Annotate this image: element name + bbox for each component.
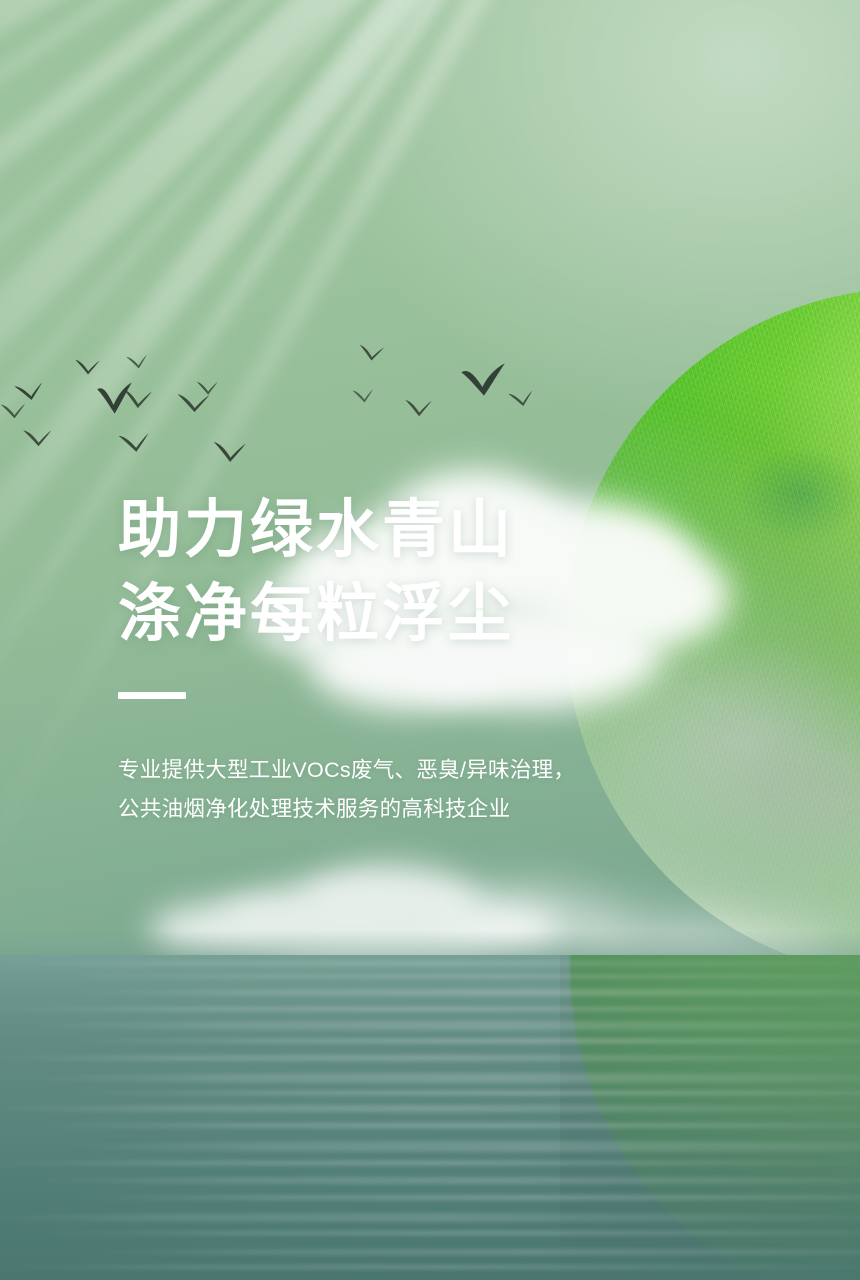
bird-icon bbox=[0, 402, 26, 420]
water-ripple bbox=[0, 1055, 860, 1061]
water-ripple bbox=[52, 1091, 860, 1095]
bird-icon bbox=[459, 360, 510, 401]
bird-icon bbox=[73, 357, 100, 377]
water-ripple bbox=[17, 1231, 860, 1235]
water-ripple bbox=[52, 1195, 860, 1200]
bird-icon bbox=[403, 397, 432, 419]
water-ripple bbox=[0, 1105, 860, 1112]
subtitle-line-1: 专业提供大型工业VOCs废气、恶臭/异味治理， bbox=[118, 751, 758, 790]
hero-text-block: 助力绿水青山 涤净每粒浮尘 专业提供大型工业VOCs废气、恶臭/异味治理， 公共… bbox=[118, 488, 758, 829]
bird-icon bbox=[125, 353, 148, 370]
subtitle-line-2: 公共油烟净化处理技术服务的高科技企业 bbox=[118, 790, 758, 829]
water-ripple bbox=[0, 1213, 860, 1222]
water-ripple bbox=[0, 1265, 860, 1269]
headline-divider bbox=[118, 692, 186, 699]
water-ripple bbox=[0, 1161, 860, 1165]
bird-icon bbox=[507, 389, 535, 410]
water-ripple bbox=[17, 1123, 860, 1128]
bird-icon bbox=[211, 439, 247, 466]
water-ripple bbox=[17, 1177, 860, 1184]
water-ripple bbox=[52, 1249, 860, 1255]
bird-icon bbox=[121, 386, 153, 411]
flying-birds-flock-icon bbox=[0, 330, 470, 460]
bird-icon bbox=[357, 342, 385, 363]
water-ripple bbox=[17, 1021, 860, 1030]
bird-icon bbox=[13, 380, 45, 403]
water-ripple bbox=[52, 1039, 860, 1043]
water-ripples bbox=[0, 955, 860, 1280]
water-ripple bbox=[0, 1007, 860, 1011]
bird-icon bbox=[22, 427, 53, 448]
water-ripple bbox=[52, 989, 860, 996]
headline-line-2: 涤净每粒浮尘 bbox=[118, 572, 758, 656]
eco-hero-poster: 助力绿水青山 涤净每粒浮尘 专业提供大型工业VOCs废气、恶臭/异味治理， 公共… bbox=[0, 0, 860, 1280]
bird-icon bbox=[196, 380, 219, 397]
headline-line-1: 助力绿水青山 bbox=[118, 488, 758, 572]
water-ripple bbox=[52, 1141, 860, 1152]
bird-icon bbox=[117, 431, 150, 455]
water-ripple bbox=[0, 961, 860, 966]
water-ripple bbox=[17, 975, 860, 978]
water-ripple bbox=[17, 1073, 860, 1083]
bird-icon bbox=[352, 388, 375, 405]
